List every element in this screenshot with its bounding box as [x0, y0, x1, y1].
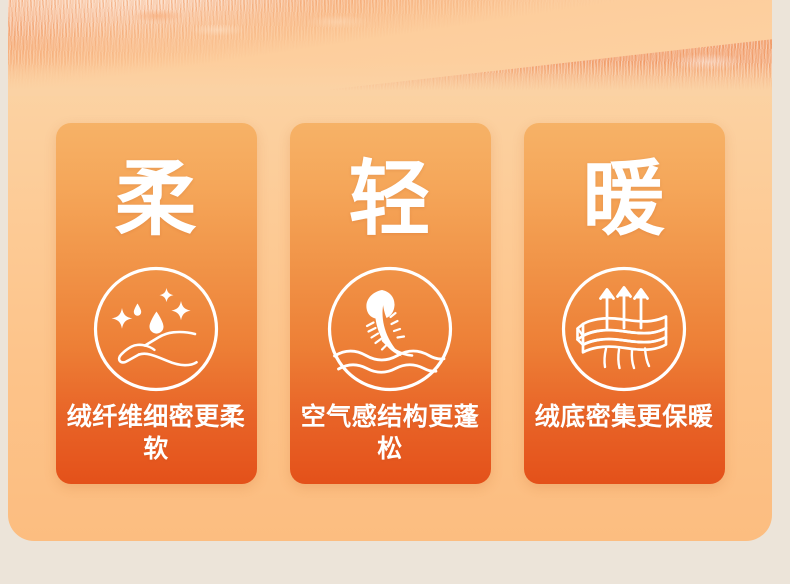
card-headline: 柔 — [56, 156, 257, 244]
feature-card-light[interactable]: 轻 — [290, 123, 491, 484]
feature-card-row: 柔 — [8, 123, 772, 484]
fur-bottom-fade — [8, 62, 772, 96]
hand-water-drop-sparkle-icon — [56, 266, 257, 392]
card-caption: 空气感结构更蓬松 — [290, 401, 491, 465]
content-panel: 柔 — [8, 0, 772, 541]
feature-card-soft[interactable]: 柔 — [56, 123, 257, 484]
layered-fabric-heat-arrows-icon — [524, 266, 725, 392]
product-detail-page: 柔 — [0, 0, 790, 584]
card-caption: 绒纤维细密更柔软 — [56, 401, 257, 465]
card-headline: 轻 — [290, 156, 491, 244]
feather-over-waves-icon — [290, 266, 491, 392]
fur-texture-photo — [8, 0, 772, 96]
feature-card-warm[interactable]: 暖 — [524, 123, 725, 484]
card-headline: 暖 — [524, 156, 725, 244]
card-caption: 绒底密集更保暖 — [524, 401, 725, 433]
